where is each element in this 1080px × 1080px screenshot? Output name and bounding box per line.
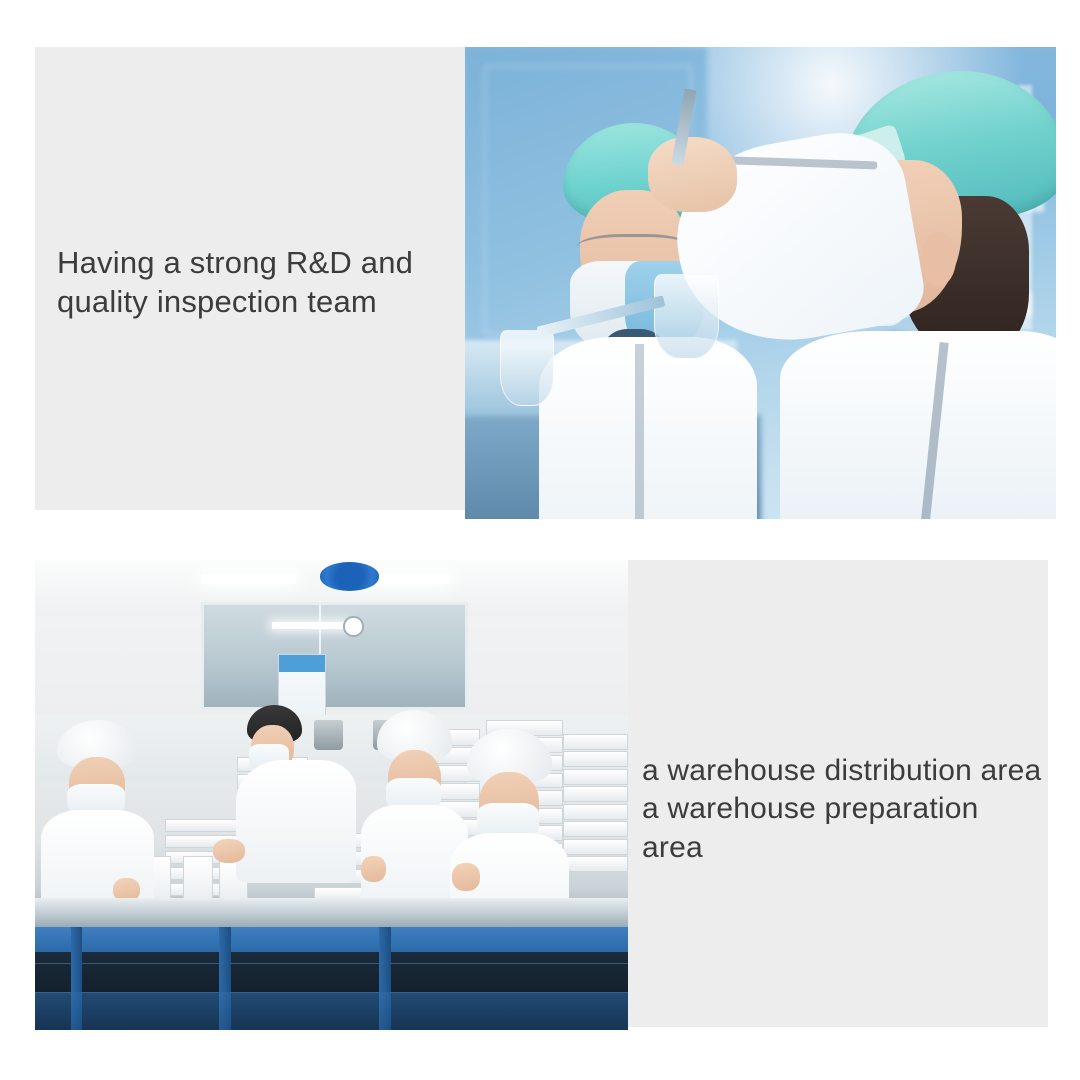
- interior-light: [272, 622, 350, 629]
- wall-clock-icon: [343, 616, 363, 636]
- lab-inspection-photo: [465, 47, 1056, 519]
- gloved-hand: [648, 137, 737, 213]
- lab-coat: [780, 331, 1056, 519]
- hand: [361, 856, 386, 882]
- white-coat: [236, 760, 356, 882]
- hand: [213, 839, 245, 863]
- hand: [452, 863, 480, 891]
- floor: [35, 992, 628, 1030]
- packing-worker-bending: [243, 701, 350, 898]
- under-table-rail-a: [35, 963, 628, 964]
- packing-worker-middle: [367, 710, 462, 907]
- wall-sign-icon: [320, 562, 379, 590]
- glass-beaker: [500, 330, 553, 406]
- box-stack-right-c: [563, 734, 628, 880]
- warehouse-packing-photo: [35, 560, 628, 1030]
- observation-window: [201, 602, 468, 710]
- lab-coat: [539, 337, 756, 519]
- ceiling-light-a: [201, 574, 296, 584]
- page-root: Having a strong R&D and quality inspecti…: [0, 0, 1080, 1080]
- bottom-caption-text: a warehouse distribution area a warehous…: [642, 752, 1042, 867]
- ear: [921, 232, 956, 286]
- top-caption-text: Having a strong R&D and quality inspecti…: [57, 243, 457, 321]
- glass-flask: [654, 274, 719, 359]
- packing-worker-left: [47, 720, 148, 908]
- blue-table-frame: [35, 927, 628, 953]
